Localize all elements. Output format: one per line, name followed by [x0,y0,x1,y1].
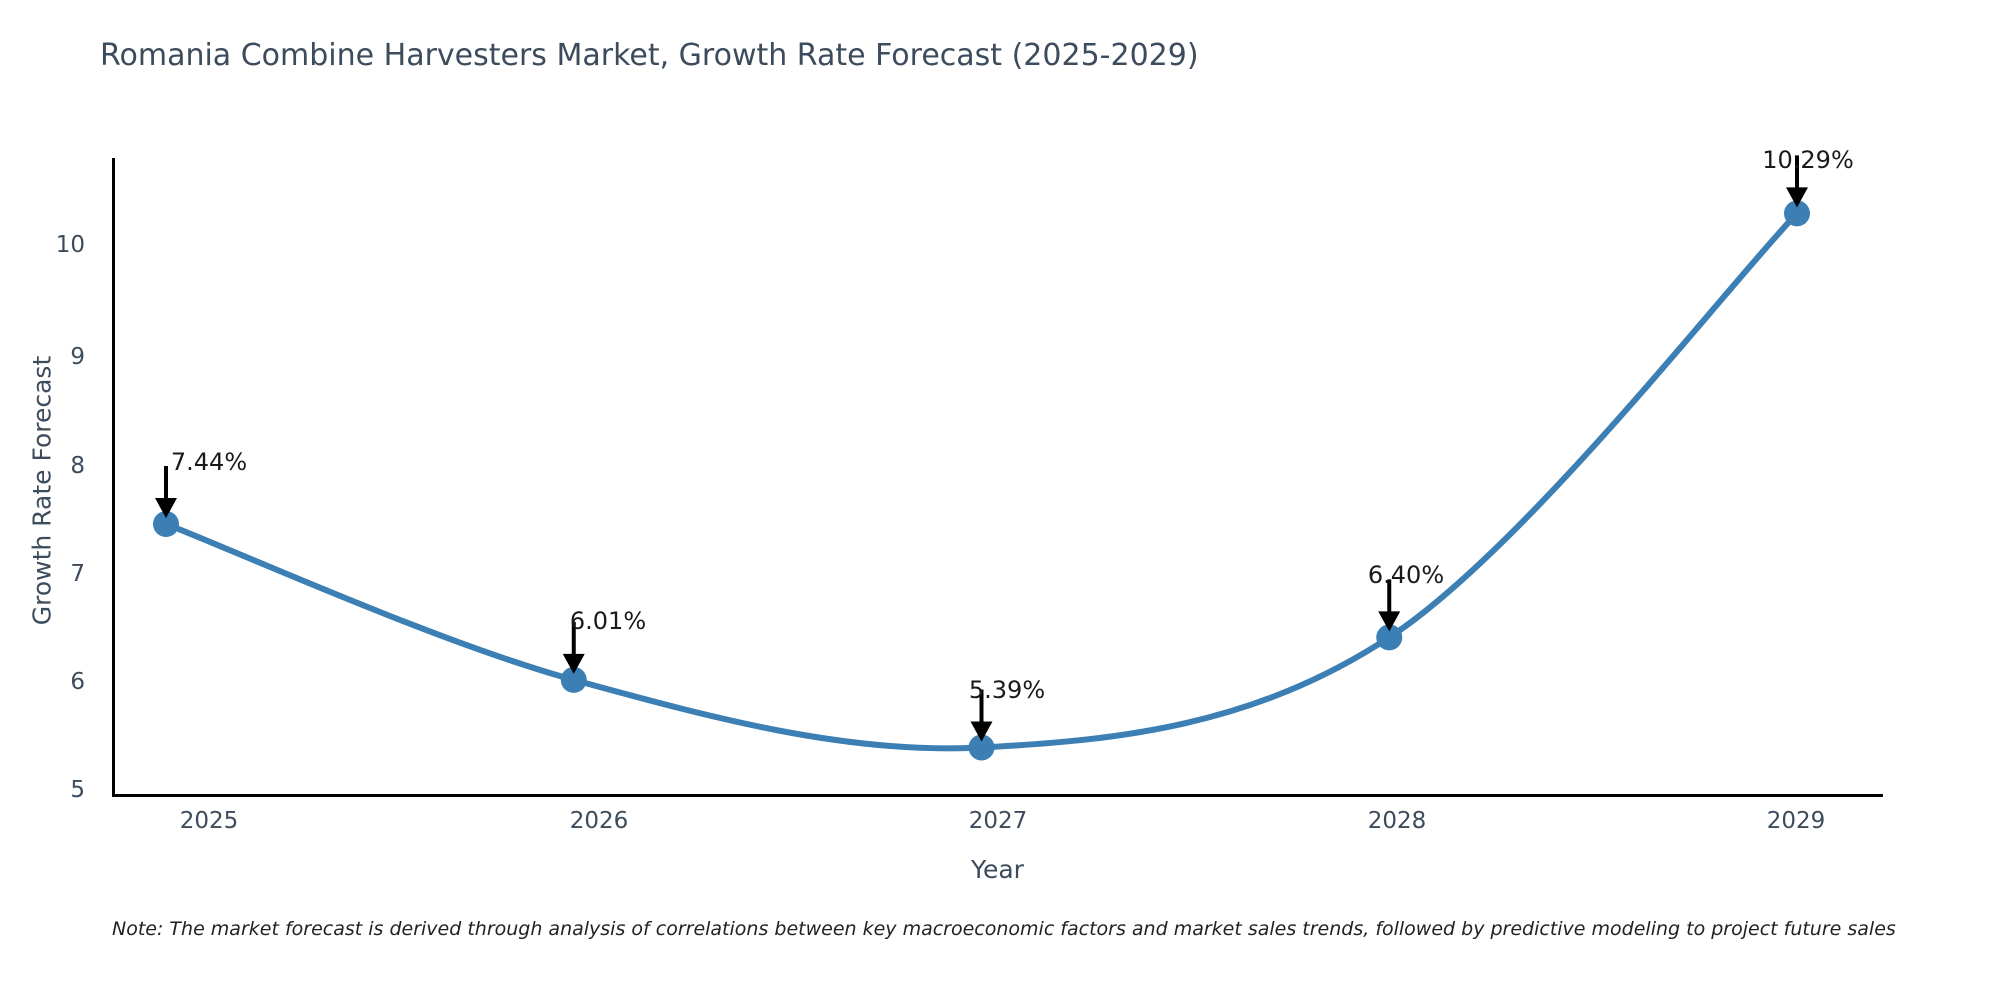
chart-footnote: Note: The market forecast is derived thr… [112,918,2000,940]
data-label-2026: 6.01% [570,607,646,635]
data-label-2025: 7.44% [171,448,247,476]
chart-figure: Romania Combine Harvesters Market, Growt… [0,0,2000,1000]
data-label-2029: 10.29% [1762,146,1854,174]
plot-area: 5 6 7 8 9 10 2025 2026 2027 2028 2029 Gr… [0,0,2000,1000]
data-label-2027: 5.39% [969,676,1045,704]
data-series-layer [0,0,2000,1000]
annotation-arrows [155,155,1808,741]
line-series-growth-rate [166,213,1797,748]
data-label-2028: 6.40% [1368,561,1444,589]
